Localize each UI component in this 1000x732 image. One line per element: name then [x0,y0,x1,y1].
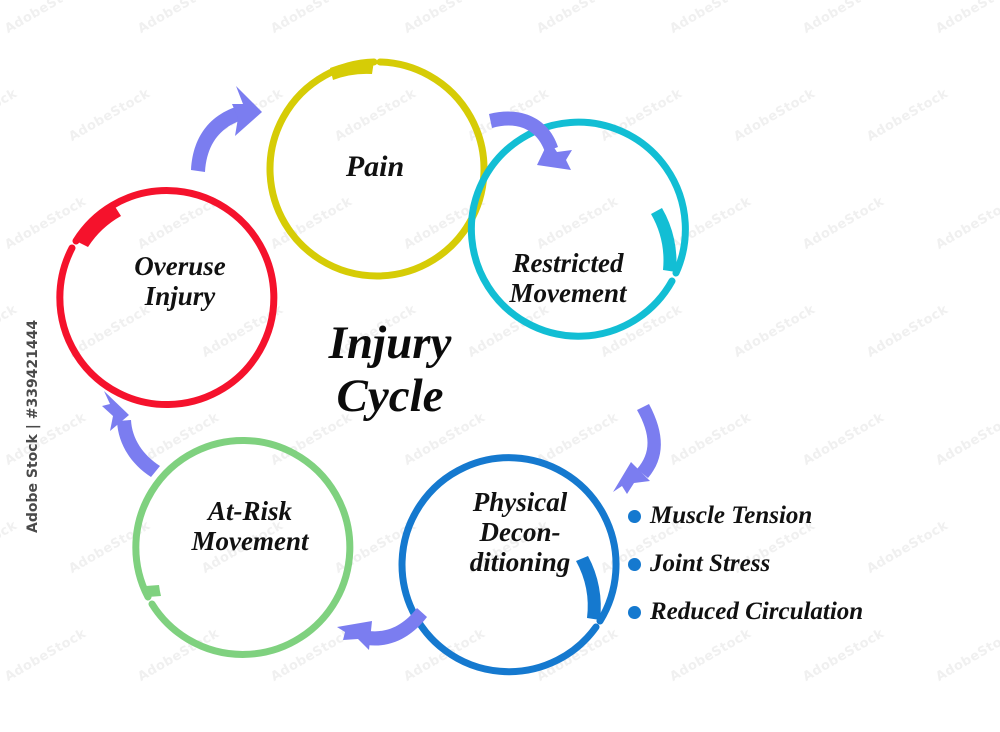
arrow-restricted-to-physical [613,404,661,494]
arrow-pain-to-restricted [489,111,572,170]
callout-list: Muscle Tension Joint Stress Reduced Circ… [628,492,978,636]
bullet-dot-icon [628,606,641,619]
list-item-label: Reduced Circulation [650,598,863,626]
node-label-at-risk-movement: At-Risk Movement [155,496,345,556]
node-label-physical-deconditioning: Physical Decon- ditioning [435,487,605,578]
list-item-label: Muscle Tension [650,502,812,530]
bullet-dot-icon [628,558,641,571]
list-item: Reduced Circulation [628,588,978,636]
diagram-canvas: AdobeStockAdobeStockAdobeStockAdobeStock… [0,0,1000,732]
node-label-restricted-movement: Restricted Movement [480,248,656,308]
node-label-overuse-injury: Overuse Injury [90,251,270,311]
list-item-label: Joint Stress [650,550,770,578]
arrow-physical-to-at-risk [337,608,427,650]
watermark-side-text: Adobe Stock | #339421444 [25,363,41,533]
bullet-dot-icon [628,510,641,523]
diagram-title: Injury Cycle [278,317,502,422]
node-label-pain: Pain [300,150,450,184]
list-item: Joint Stress [628,540,978,588]
arrow-overuse-to-pain [191,86,262,172]
list-item: Muscle Tension [628,492,978,540]
